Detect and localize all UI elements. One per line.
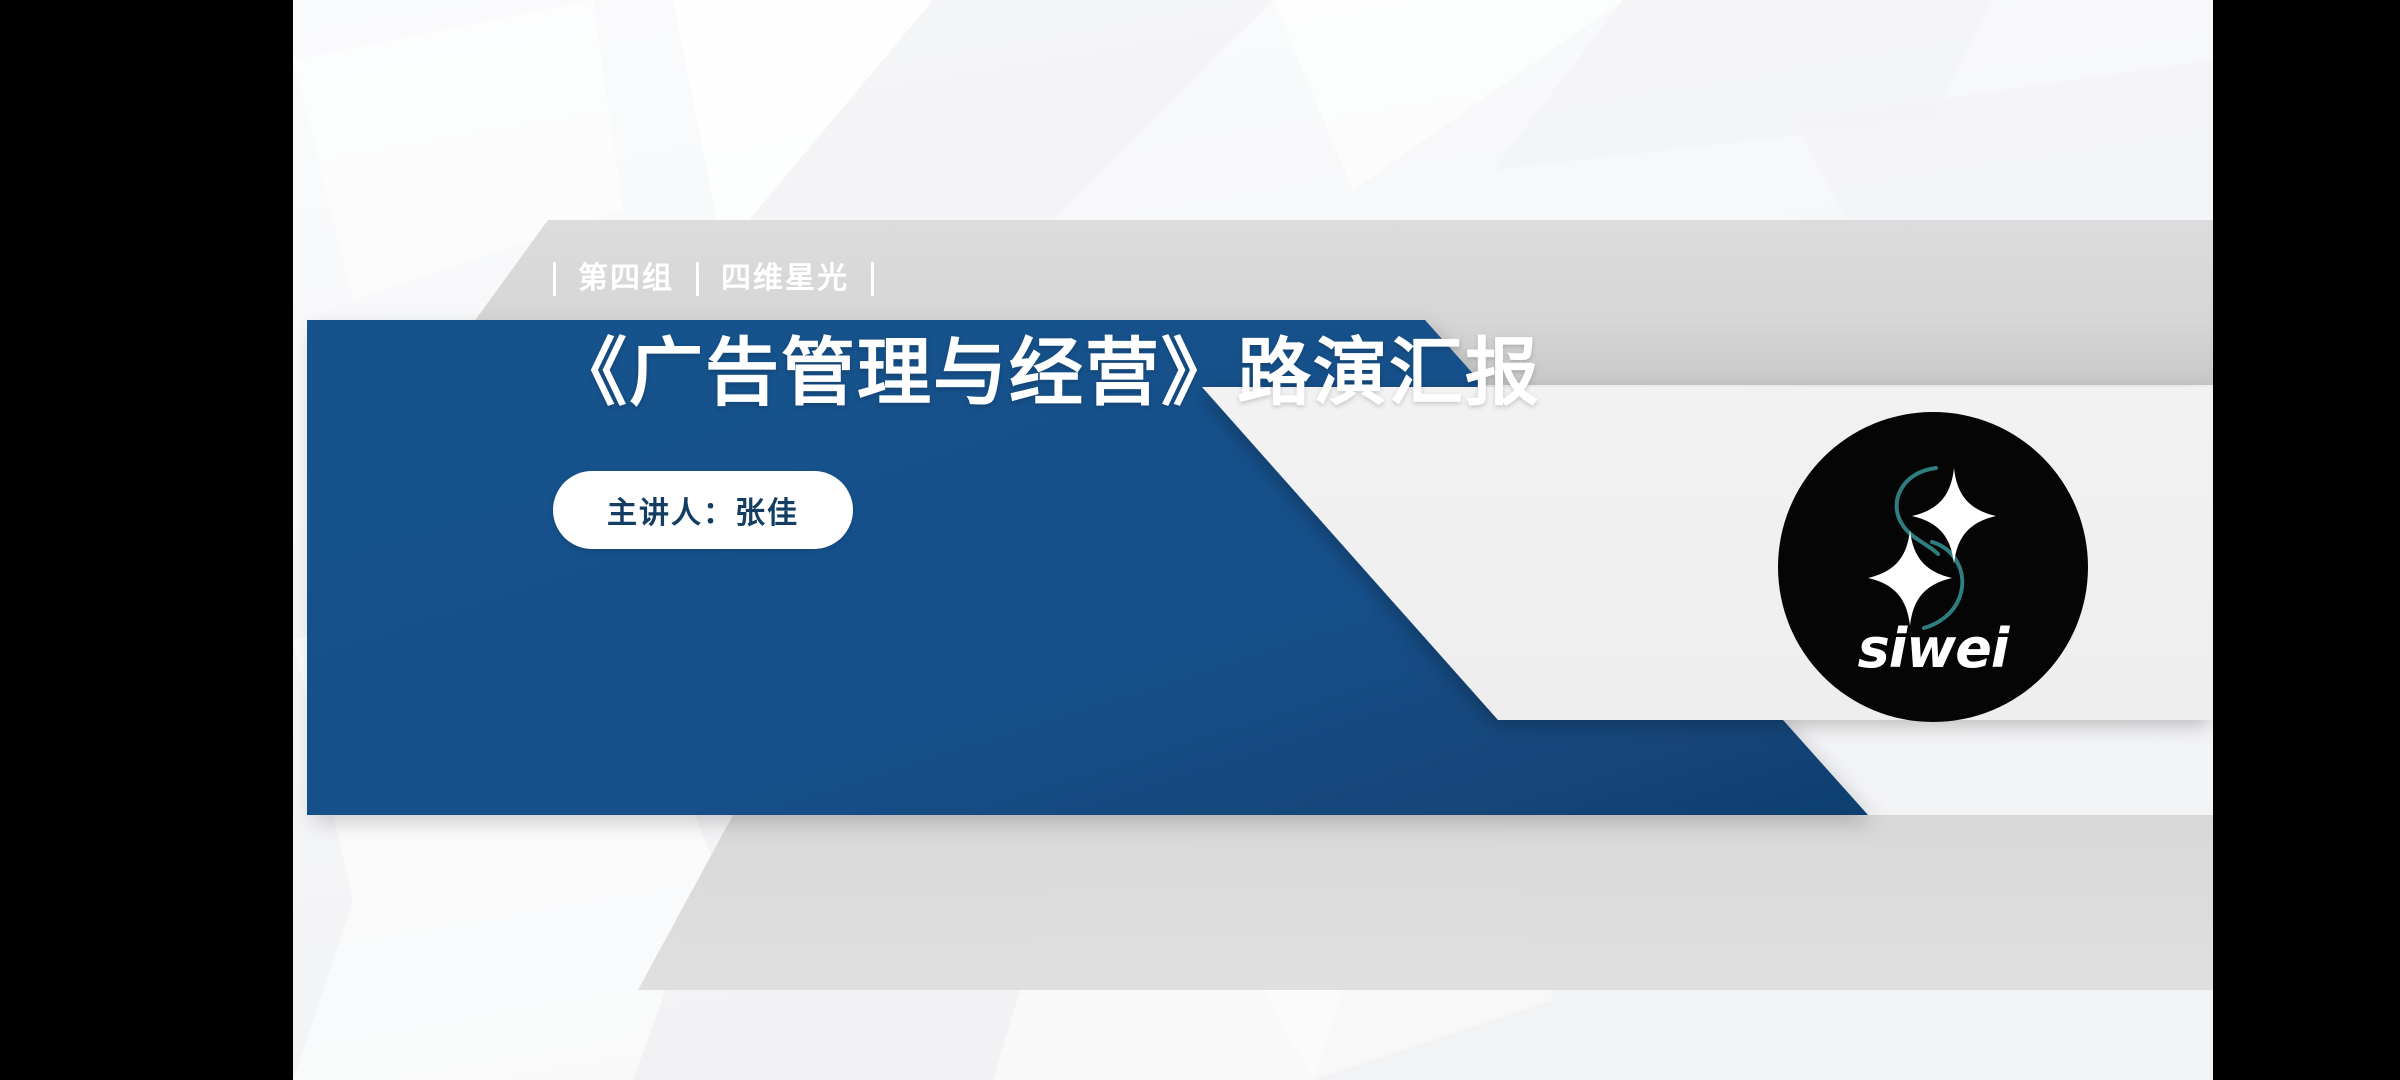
eyebrow-line: 第四组 四维星光 xyxy=(553,262,1541,296)
eyebrow-divider-icon xyxy=(871,262,874,296)
eyebrow-divider-icon xyxy=(696,262,699,296)
page-title: 《广告管理与经营》路演汇报 xyxy=(553,332,1541,415)
group-label: 第四组 xyxy=(578,264,674,294)
letterbox-left xyxy=(0,0,293,1080)
presenter-pill[interactable]: 主讲人：张佳 xyxy=(553,471,853,549)
logo-wordmark: siwei xyxy=(1778,622,2088,676)
letterbox-right xyxy=(2213,0,2400,1080)
presentation-slide: 第四组 四维星光 《广告管理与经营》路演汇报 主讲人：张佳 xyxy=(293,0,2213,1080)
eyebrow-divider-icon xyxy=(553,262,556,296)
brand-logo[interactable]: siwei xyxy=(1778,412,2088,722)
siwei-sparkle-logo-icon xyxy=(1858,450,2008,640)
team-label: 四维星光 xyxy=(721,264,849,294)
title-text-block: 第四组 四维星光 《广告管理与经营》路演汇报 主讲人：张佳 xyxy=(553,262,1541,549)
screenshot-stage: 第四组 四维星光 《广告管理与经营》路演汇报 主讲人：张佳 xyxy=(0,0,2400,1080)
logo-circle-background: siwei xyxy=(1778,412,2088,722)
